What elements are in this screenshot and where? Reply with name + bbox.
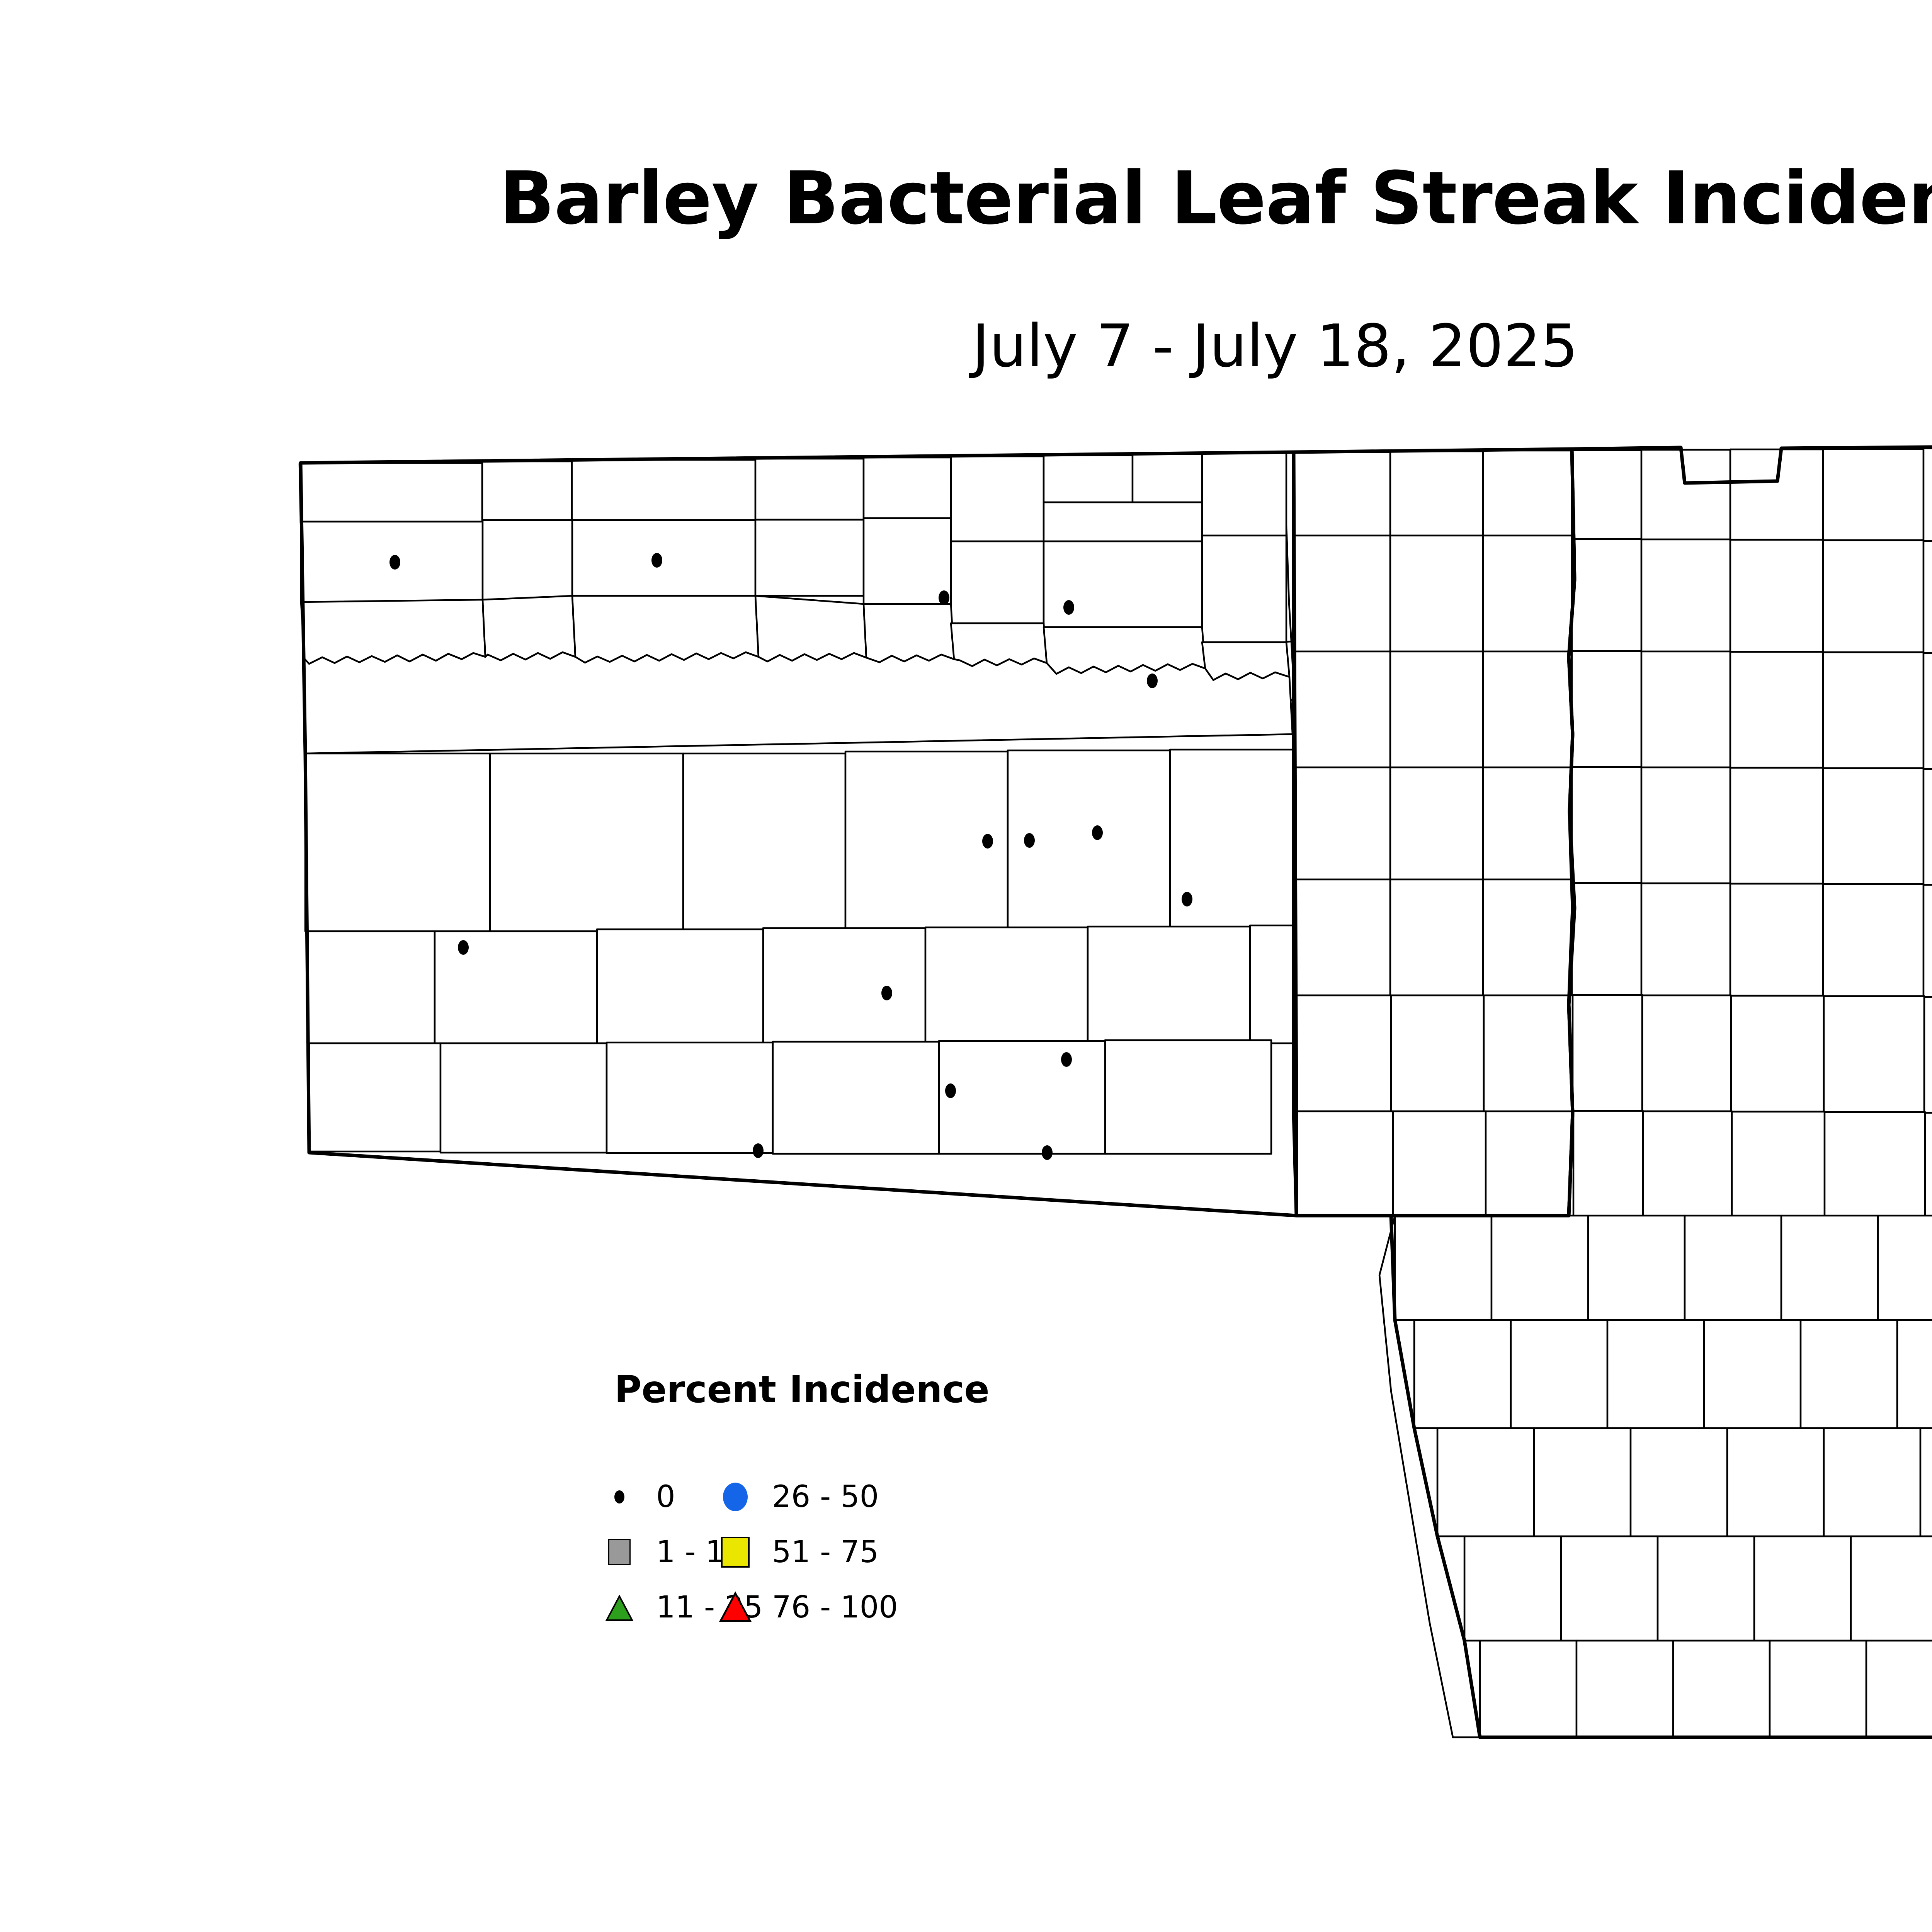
data-point xyxy=(982,834,993,849)
data-point xyxy=(1061,1052,1072,1067)
legend-label-51-75: 51 - 75 xyxy=(772,1537,879,1567)
data-point xyxy=(651,553,662,568)
legend-item-0[interactable]: 0 xyxy=(603,1469,719,1524)
black-dot-icon xyxy=(603,1480,636,1514)
data-point xyxy=(945,1083,956,1098)
data-point xyxy=(1147,673,1158,688)
data-point xyxy=(389,555,400,570)
legend-grid: 0 26 - 50 1 - 10 51 - 75 11 - 25 xyxy=(603,1469,1105,1635)
red-triangle-icon xyxy=(719,1591,752,1624)
gray-square-icon xyxy=(603,1536,636,1569)
legend-item-11-25[interactable]: 11 - 25 xyxy=(603,1580,719,1635)
data-point xyxy=(1024,833,1035,848)
data-point xyxy=(1182,892,1192,906)
legend-label-76-100: 76 - 100 xyxy=(772,1592,898,1622)
map-page: Barley Bacterial Leaf Streak Incidence J… xyxy=(0,0,1932,1932)
data-point xyxy=(753,1143,764,1158)
data-point xyxy=(1063,600,1074,615)
legend-item-76-100[interactable]: 76 - 100 xyxy=(719,1580,873,1635)
legend-item-26-50[interactable]: 26 - 50 xyxy=(719,1469,873,1524)
data-point xyxy=(881,986,892,1000)
data-point xyxy=(458,940,469,955)
legend-item-51-75[interactable]: 51 - 75 xyxy=(719,1524,873,1580)
legend-label-0: 0 xyxy=(656,1482,675,1512)
data-point xyxy=(1042,1145,1053,1160)
county-grid xyxy=(301,448,1932,1737)
data-point xyxy=(939,590,949,605)
county-map-svg xyxy=(0,0,1932,1932)
legend-title: Percent Incidence xyxy=(614,1368,1105,1411)
blue-circle-icon xyxy=(719,1480,752,1514)
legend-item-1-10[interactable]: 1 - 10 xyxy=(603,1524,719,1580)
legend: Percent Incidence 0 26 - 50 1 - 10 51 - … xyxy=(603,1368,1105,1635)
yellow-square-icon xyxy=(719,1536,752,1569)
map-canvas xyxy=(0,0,1932,1932)
data-point xyxy=(1092,825,1103,840)
legend-label-26-50: 26 - 50 xyxy=(772,1482,879,1512)
green-triangle-icon xyxy=(603,1591,636,1624)
